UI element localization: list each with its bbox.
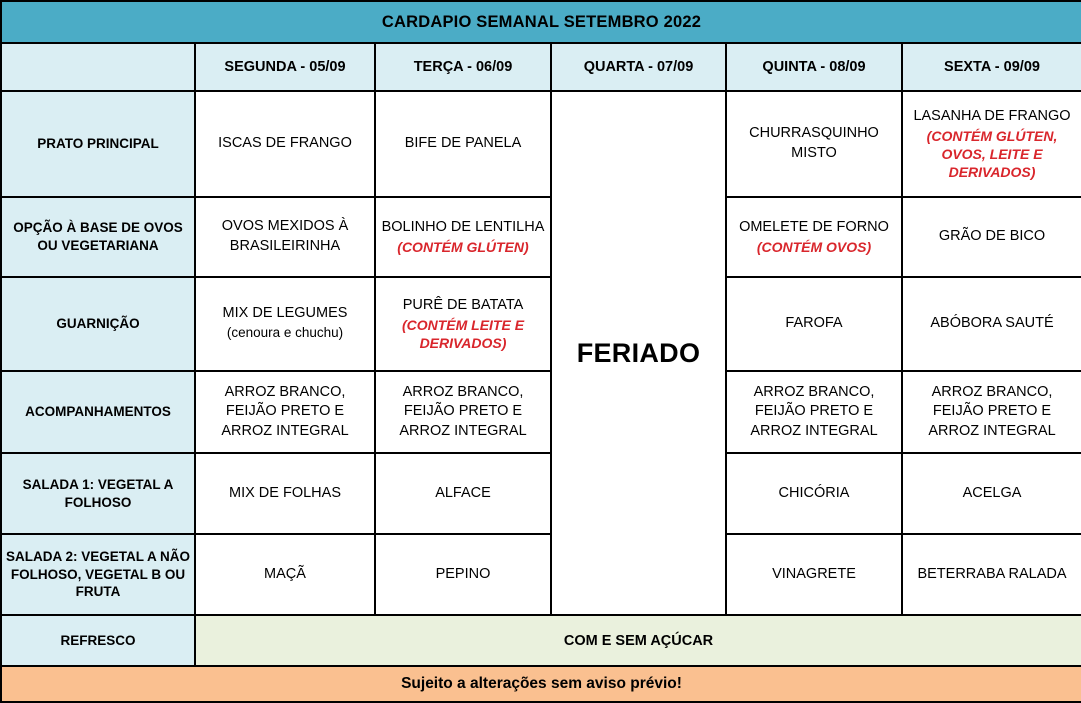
cell-salada-2-terca: PEPINO — [375, 534, 551, 615]
cell-salada-2-segunda: MAÇÃ — [195, 534, 375, 615]
cell-acompanhamentos-terca: ARROZ BRANCO, FEIJÃO PRETO E ARROZ INTEG… — [375, 371, 551, 453]
cell-main-text: ARROZ BRANCO, FEIJÃO PRETO E ARROZ INTEG… — [221, 384, 348, 439]
allergen-alert: (CONTÉM GLÚTEN) — [380, 238, 546, 256]
day-header-terca: TERÇA - 06/09 — [375, 43, 551, 91]
table-row: PRATO PRINCIPAL ISCAS DE FRANGO BIFE DE … — [1, 91, 1081, 197]
day-header-quarta: QUARTA - 07/09 — [551, 43, 726, 91]
cell-salada-1-terca: ALFACE — [375, 453, 551, 534]
refresco-value: COM E SEM AÇÚCAR — [195, 615, 1081, 666]
row-label-salada-2: SALADA 2: VEGETAL A NÃO FOLHOSO, VEGETAL… — [1, 534, 195, 615]
day-header-quinta: QUINTA - 08/09 — [726, 43, 902, 91]
day-header-row: SEGUNDA - 05/09 TERÇA - 06/09 QUARTA - 0… — [1, 43, 1081, 91]
row-label-salada-1: SALADA 1: VEGETAL A FOLHOSO — [1, 453, 195, 534]
cell-sub-text: (cenoura e chuchu) — [227, 325, 343, 340]
row-label-guarnicao: GUARNIÇÃO — [1, 277, 195, 371]
cell-opcao-ovos-segunda: OVOS MEXIDOS À BRASILEIRINHA — [195, 197, 375, 277]
cell-salada-2-sexta: BETERRABA RALADA — [902, 534, 1081, 615]
cell-main-text: OVOS MEXIDOS À BRASILEIRINHA — [222, 218, 349, 254]
title-row: CARDAPIO SEMANAL SETEMBRO 2022 — [1, 1, 1081, 43]
cell-acompanhamentos-quinta: ARROZ BRANCO, FEIJÃO PRETO E ARROZ INTEG… — [726, 371, 902, 453]
cell-guarnicao-sexta: ABÓBORA SAUTÉ — [902, 277, 1081, 371]
table-row: SALADA 2: VEGETAL A NÃO FOLHOSO, VEGETAL… — [1, 534, 1081, 615]
footer-note: Sujeito a alterações sem aviso prévio! — [1, 666, 1081, 702]
cell-main-text: ARROZ BRANCO, FEIJÃO PRETO E ARROZ INTEG… — [750, 384, 877, 439]
holiday-cell: FERIADO — [551, 91, 726, 615]
cell-main-text: MIX DE LEGUMES — [223, 305, 348, 321]
cell-guarnicao-terca: PURÊ DE BATATA (CONTÉM LEITE E DERIVADOS… — [375, 277, 551, 371]
cell-main-text: GRÃO DE BICO — [939, 228, 1045, 244]
row-label-refresco: REFRESCO — [1, 615, 195, 666]
table-row: OPÇÃO À BASE DE OVOS OU VEGETARIANA OVOS… — [1, 197, 1081, 277]
cell-acompanhamentos-segunda: ARROZ BRANCO, FEIJÃO PRETO E ARROZ INTEG… — [195, 371, 375, 453]
table-row: ACOMPANHAMENTOS ARROZ BRANCO, FEIJÃO PRE… — [1, 371, 1081, 453]
cell-prato-principal-sexta: LASANHA DE FRANGO (CONTÉM GLÚTEN, OVOS, … — [902, 91, 1081, 197]
cell-main-text: VINAGRETE — [772, 566, 856, 582]
cell-main-text: ISCAS DE FRANGO — [218, 135, 352, 151]
cell-salada-2-quinta: VINAGRETE — [726, 534, 902, 615]
row-label-opcao-ovos: OPÇÃO À BASE DE OVOS OU VEGETARIANA — [1, 197, 195, 277]
page-title: CARDAPIO SEMANAL SETEMBRO 2022 — [1, 1, 1081, 43]
cell-opcao-ovos-sexta: GRÃO DE BICO — [902, 197, 1081, 277]
cell-main-text: BOLINHO DE LENTILHA — [382, 219, 545, 235]
cell-main-text: LASANHA DE FRANGO — [913, 108, 1070, 124]
cell-main-text: CHICÓRIA — [779, 485, 850, 501]
cell-main-text: PURÊ DE BATATA — [403, 297, 524, 313]
menu-page: CARDAPIO SEMANAL SETEMBRO 2022 SEGUNDA -… — [0, 0, 1081, 703]
table-row: SALADA 1: VEGETAL A FOLHOSO MIX DE FOLHA… — [1, 453, 1081, 534]
day-header-sexta: SEXTA - 09/09 — [902, 43, 1081, 91]
table-row: GUARNIÇÃO MIX DE LEGUMES (cenoura e chuc… — [1, 277, 1081, 371]
cell-main-text: MIX DE FOLHAS — [229, 485, 341, 501]
cell-main-text: MAÇÃ — [264, 566, 306, 582]
corner-cell — [1, 43, 195, 91]
cell-main-text: CHURRASQUINHO MISTO — [749, 125, 879, 161]
cell-main-text: ARROZ BRANCO, FEIJÃO PRETO E ARROZ INTEG… — [928, 384, 1055, 439]
cell-guarnicao-segunda: MIX DE LEGUMES (cenoura e chuchu) — [195, 277, 375, 371]
cell-salada-1-sexta: ACELGA — [902, 453, 1081, 534]
cell-main-text: ARROZ BRANCO, FEIJÃO PRETO E ARROZ INTEG… — [399, 384, 526, 439]
cell-opcao-ovos-terca: BOLINHO DE LENTILHA (CONTÉM GLÚTEN) — [375, 197, 551, 277]
allergen-alert: (CONTÉM GLÚTEN, OVOS, LEITE E DERIVADOS) — [907, 127, 1077, 182]
cell-acompanhamentos-sexta: ARROZ BRANCO, FEIJÃO PRETO E ARROZ INTEG… — [902, 371, 1081, 453]
cell-main-text: OMELETE DE FORNO — [739, 219, 889, 235]
cell-main-text: BIFE DE PANELA — [405, 135, 522, 151]
cell-main-text: ABÓBORA SAUTÉ — [930, 315, 1053, 331]
cell-guarnicao-quinta: FAROFA — [726, 277, 902, 371]
allergen-alert: (CONTÉM OVOS) — [731, 238, 897, 256]
cell-salada-1-quinta: CHICÓRIA — [726, 453, 902, 534]
cell-prato-principal-terca: BIFE DE PANELA — [375, 91, 551, 197]
cell-salada-1-segunda: MIX DE FOLHAS — [195, 453, 375, 534]
weekly-menu-table: CARDAPIO SEMANAL SETEMBRO 2022 SEGUNDA -… — [0, 0, 1081, 703]
row-label-prato-principal: PRATO PRINCIPAL — [1, 91, 195, 197]
footer-row: Sujeito a alterações sem aviso prévio! — [1, 666, 1081, 702]
cell-main-text: FAROFA — [785, 315, 842, 331]
allergen-alert: (CONTÉM LEITE E DERIVADOS) — [380, 316, 546, 352]
cell-main-text: ALFACE — [435, 485, 491, 501]
day-header-segunda: SEGUNDA - 05/09 — [195, 43, 375, 91]
cell-main-text: ACELGA — [963, 485, 1022, 501]
refresco-row: REFRESCO COM E SEM AÇÚCAR — [1, 615, 1081, 666]
cell-main-text: BETERRABA RALADA — [917, 566, 1066, 582]
cell-opcao-ovos-quinta: OMELETE DE FORNO (CONTÉM OVOS) — [726, 197, 902, 277]
row-label-acompanhamentos: ACOMPANHAMENTOS — [1, 371, 195, 453]
cell-prato-principal-segunda: ISCAS DE FRANGO — [195, 91, 375, 197]
cell-prato-principal-quinta: CHURRASQUINHO MISTO — [726, 91, 902, 197]
cell-main-text: PEPINO — [436, 566, 491, 582]
